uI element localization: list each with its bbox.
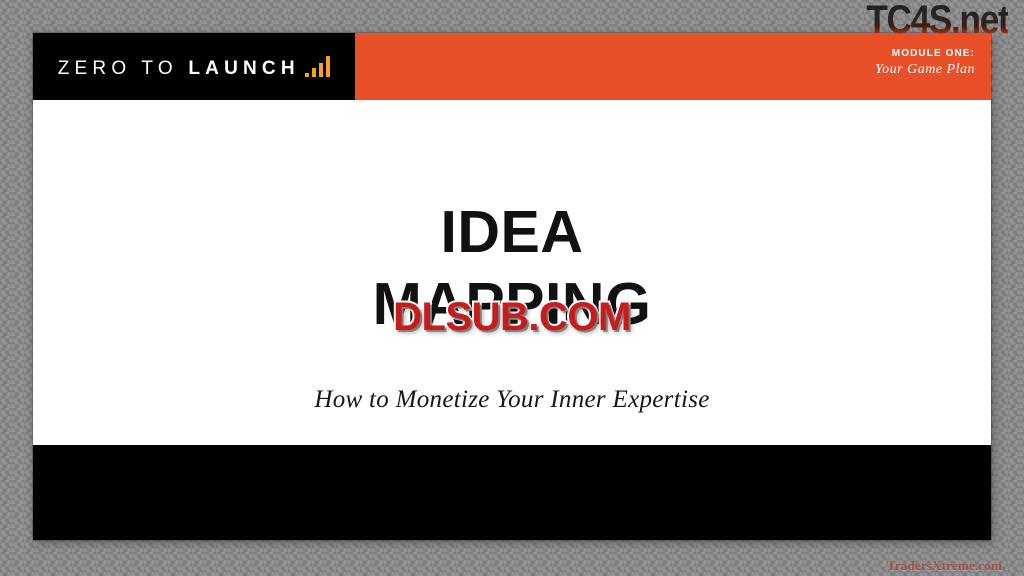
brand-logo-text-light: ZERO TO xyxy=(58,58,178,79)
module-kicker: MODULE ONE: xyxy=(875,47,975,60)
presentation-slide: ZERO TO LAUNCH MODULE ONE: Your Game Pla… xyxy=(33,33,991,540)
slide-title-block: IDEA MAPPING xyxy=(33,196,991,340)
slide-subtitle: How to Monetize Your Inner Expertise xyxy=(33,385,991,415)
brand-logo-text: ZERO TO LAUNCH xyxy=(58,59,300,78)
slide-title-line-1: IDEA xyxy=(33,196,991,268)
slide-header-band: ZERO TO LAUNCH MODULE ONE: Your Game Pla… xyxy=(33,33,991,100)
brand-logo-text-bold: LAUNCH xyxy=(188,58,299,79)
slide-body: IDEA MAPPING How to Monetize Your Inner … xyxy=(33,100,991,445)
bar-chart-icon xyxy=(305,56,331,77)
module-title: Your Game Plan xyxy=(875,61,975,79)
slide-footer-bar xyxy=(33,445,991,540)
screenshot-root: ZERO TO LAUNCH MODULE ONE: Your Game Pla… xyxy=(0,0,1024,576)
module-label: MODULE ONE: Your Game Plan xyxy=(875,47,975,79)
brand-logo: ZERO TO LAUNCH xyxy=(33,33,355,100)
slide-title-line-2: MAPPING xyxy=(33,268,991,340)
watermark-bottom-right: TradersXtreme.com xyxy=(887,558,1002,573)
